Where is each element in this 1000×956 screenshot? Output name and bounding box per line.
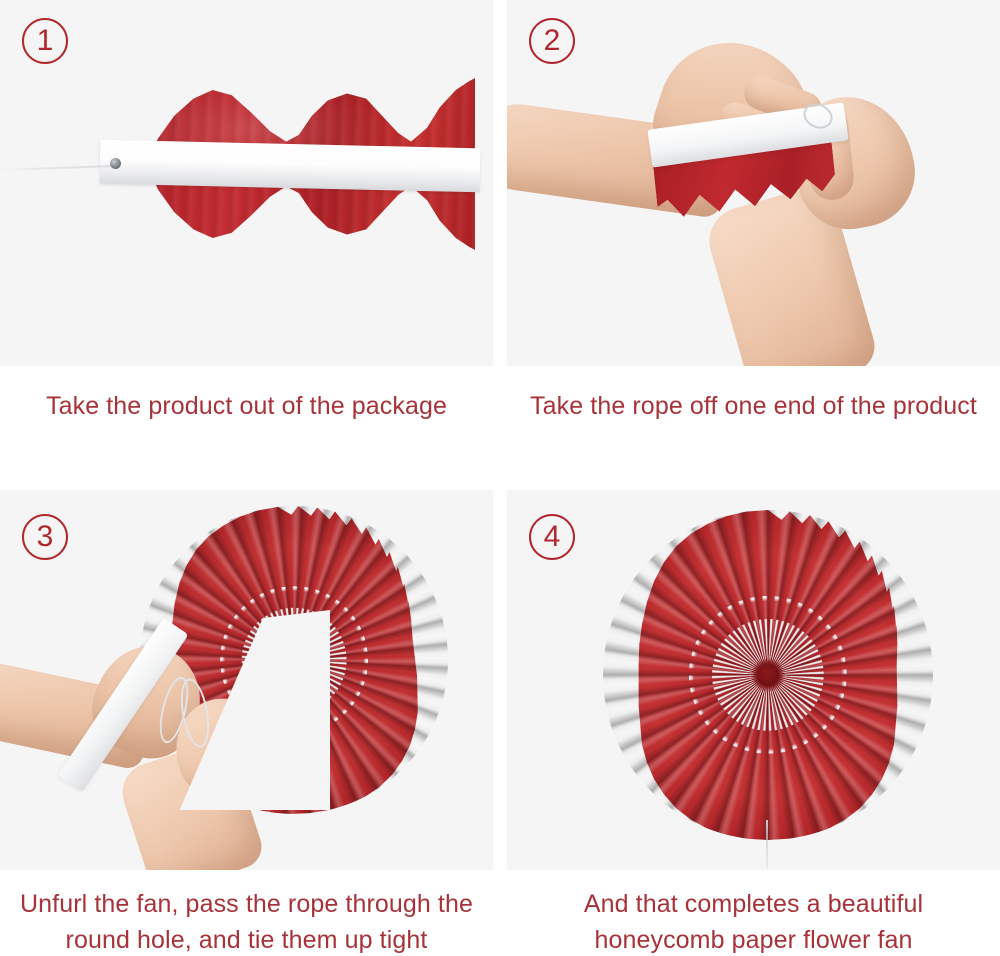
folded-fan-group xyxy=(60,70,480,260)
grommet-icon xyxy=(110,158,121,169)
step-2-photo xyxy=(507,0,1000,366)
fan-hub xyxy=(756,663,779,686)
step-3-caption-line-1: Unfurl the fan, pass the rope through th… xyxy=(0,886,493,922)
step-4-caption-line-2: honeycomb paper flower fan xyxy=(507,922,1000,956)
step-4-photo xyxy=(507,490,1000,870)
cardboard-strip xyxy=(100,140,481,193)
step-number-badge-2: 2 xyxy=(529,18,575,64)
step-4-caption-line-1: And that completes a beautiful xyxy=(507,886,1000,922)
steps-grid: 1 Take the product out of the package 2 xyxy=(0,0,1000,956)
step-1-photo-panel: 1 xyxy=(0,0,493,366)
step-2-caption: Take the rope off one end of the product xyxy=(507,388,1000,424)
instruction-sheet: 1 Take the product out of the package 2 xyxy=(0,0,1000,956)
step-3-caption: Unfurl the fan, pass the rope through th… xyxy=(0,886,493,956)
step-1-photo xyxy=(0,0,493,366)
step-card-1: 1 Take the product out of the package xyxy=(0,0,493,490)
step-number-badge-3: 3 xyxy=(22,514,68,560)
step-2-photo-panel: 2 xyxy=(507,0,1000,366)
step-3-photo xyxy=(0,490,493,870)
step-1-caption: Take the product out of the package xyxy=(0,388,493,424)
finished-honeycomb-fan xyxy=(603,510,933,840)
step-3-photo-panel: 3 xyxy=(0,490,493,870)
step-4-caption: And that completes a beautiful honeycomb… xyxy=(507,886,1000,956)
step-card-4: 4 And that completes a beautiful xyxy=(507,490,1000,956)
step-number-badge-4: 4 xyxy=(529,514,575,560)
hanging-string xyxy=(766,820,768,870)
step-3-caption-line-2: round hole, and tie them up tight xyxy=(0,922,493,956)
step-4-photo-panel: 4 xyxy=(507,490,1000,870)
step-number-badge-1: 1 xyxy=(22,18,68,64)
step-card-2: 2 Take the rope off one end of the produ… xyxy=(507,0,1000,490)
step-card-3: 3 xyxy=(0,490,493,956)
